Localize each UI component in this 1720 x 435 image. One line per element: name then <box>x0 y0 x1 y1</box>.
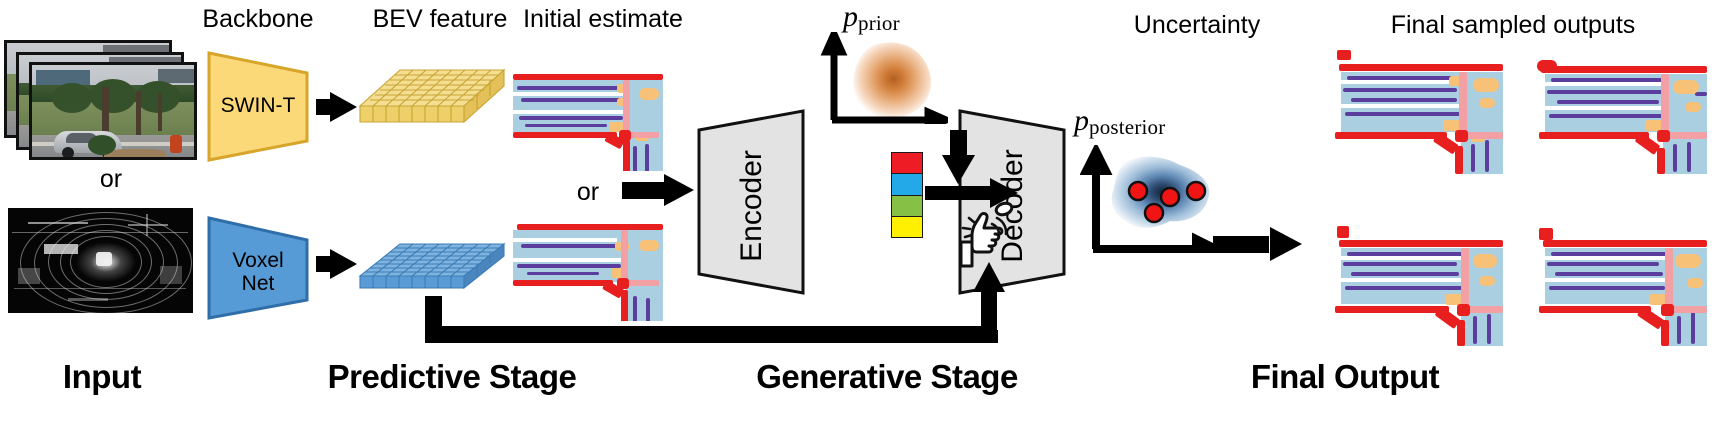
swin-t-label: SWIN-T <box>203 95 313 118</box>
latent-cell-2 <box>892 196 922 217</box>
final-output-map-2 <box>1537 48 1707 174</box>
final-output-map-3 <box>1333 220 1503 346</box>
posterior-distribution-label: pposterior <box>1074 104 1165 140</box>
input-or-label: or <box>46 165 176 194</box>
label-final-sampled-outputs: Final sampled outputs <box>1368 13 1658 38</box>
posterior-sample-dot <box>1187 182 1205 200</box>
encoder-label: Encoder <box>735 142 769 270</box>
label-bev-feature: BEV feature <box>355 7 525 32</box>
posterior-subscript: posterior <box>1089 115 1165 139</box>
final-output-map-4 <box>1537 220 1707 346</box>
stage-label-generative: Generative Stage <box>742 358 1032 396</box>
stage-label-final-output: Final Output <box>1200 358 1490 396</box>
latent-cell-0 <box>892 153 922 174</box>
label-uncertainty: Uncertainty <box>1112 13 1282 38</box>
latent-code-out <box>891 152 923 238</box>
camera-image-front <box>29 62 197 160</box>
figure-canvas: Backbone BEV feature Initial estimate Un… <box>0 0 1720 435</box>
bev-feature-yellow <box>356 66 508 138</box>
voxelnet-label-line2: Net <box>242 272 275 295</box>
arrow-voxelnet-to-bev <box>316 249 357 279</box>
label-backbone: Backbone <box>193 7 323 32</box>
final-output-map-1 <box>1333 48 1503 174</box>
voxelnet-label-line1: Voxel <box>232 249 283 272</box>
posterior-p-symbol: p <box>1074 104 1089 137</box>
posterior-sample-dot <box>1129 182 1147 200</box>
latent-cell-3 <box>892 217 922 237</box>
posterior-sample-dot <box>1161 188 1179 206</box>
latent-cell-1 <box>892 174 922 195</box>
feedback-path-bev-to-sampler <box>425 296 998 343</box>
swin-t-block[interactable]: SWIN-T <box>203 47 313 166</box>
prior-distribution-plot <box>818 32 948 124</box>
encoder-block[interactable]: Encoder <box>694 107 809 297</box>
initial-estimate-map-bottom <box>513 208 663 321</box>
label-initial-estimate: Initial estimate <box>508 7 698 32</box>
bev-feature-blue <box>356 240 508 302</box>
initial-estimate-map-top <box>513 58 663 171</box>
estimate-or-label: or <box>516 178 660 207</box>
prior-p-symbol: p <box>843 0 858 33</box>
lidar-point-cloud-image <box>8 208 193 313</box>
voxelnet-label: Voxel Net <box>203 250 313 295</box>
posterior-distribution-plot <box>1080 145 1220 253</box>
voxelnet-block[interactable]: Voxel Net <box>203 212 313 324</box>
stage-label-predictive: Predictive Stage <box>307 358 597 396</box>
arrow-swin-to-bev <box>316 92 357 122</box>
coin-flip-hand-icon <box>955 198 1021 270</box>
posterior-sample-dot <box>1145 204 1163 222</box>
prior-distribution-label: pprior <box>843 0 900 36</box>
arrow-posterior-to-output <box>1213 227 1302 261</box>
stage-label-input: Input <box>12 358 192 396</box>
